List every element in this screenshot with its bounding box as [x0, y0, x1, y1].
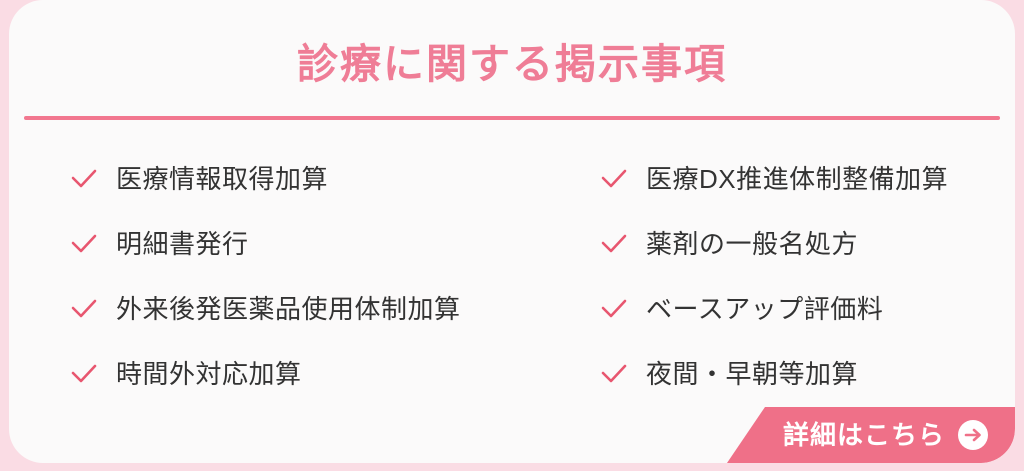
- notice-list-right-column: 医療DX推進体制整備加算 薬剤の一般名処方 ベースアップ評価料 夜間・早朝等加算: [599, 146, 948, 406]
- list-item-label: 時間外対応加算: [116, 361, 302, 387]
- list-item-label: ベースアップ評価料: [646, 296, 883, 322]
- list-item[interactable]: 医療情報取得加算: [69, 146, 461, 211]
- list-item-label: 薬剤の一般名処方: [646, 231, 858, 257]
- list-item[interactable]: 薬剤の一般名処方: [599, 211, 948, 276]
- notice-list-left-column: 医療情報取得加算 明細書発行 外来後発医薬品使用体制加算 時間外対応加算: [69, 146, 461, 406]
- details-button[interactable]: 詳細はこちら: [727, 407, 1015, 463]
- list-item-label: 夜間・早朝等加算: [646, 361, 858, 387]
- check-icon: [69, 164, 99, 194]
- notice-card: 診療に関する掲示事項 医療情報取得加算 明細書発行 外来後発医薬品使用体制: [9, 0, 1015, 463]
- list-item-label: 医療情報取得加算: [116, 166, 328, 192]
- check-icon: [599, 229, 629, 259]
- check-icon: [599, 359, 629, 389]
- title-divider: [24, 116, 1000, 120]
- details-button-label: 詳細はこちら: [783, 422, 945, 448]
- check-icon: [599, 294, 629, 324]
- list-item-label: 外来後発医薬品使用体制加算: [116, 296, 461, 322]
- notice-list: 医療情報取得加算 明細書発行 外来後発医薬品使用体制加算 時間外対応加算: [9, 146, 1015, 396]
- list-item[interactable]: 医療DX推進体制整備加算: [599, 146, 948, 211]
- list-item[interactable]: 時間外対応加算: [69, 341, 461, 406]
- list-item[interactable]: 明細書発行: [69, 211, 461, 276]
- check-icon: [69, 229, 99, 259]
- check-icon: [69, 359, 99, 389]
- check-icon: [599, 164, 629, 194]
- list-item[interactable]: 夜間・早朝等加算: [599, 341, 948, 406]
- list-item-label: 明細書発行: [116, 231, 249, 257]
- list-item[interactable]: ベースアップ評価料: [599, 276, 948, 341]
- list-item-label: 医療DX推進体制整備加算: [646, 166, 948, 192]
- check-icon: [69, 294, 99, 324]
- page-title: 診療に関する掲示事項: [9, 40, 1015, 89]
- arrow-right-circle-icon: [957, 419, 989, 451]
- list-item[interactable]: 外来後発医薬品使用体制加算: [69, 276, 461, 341]
